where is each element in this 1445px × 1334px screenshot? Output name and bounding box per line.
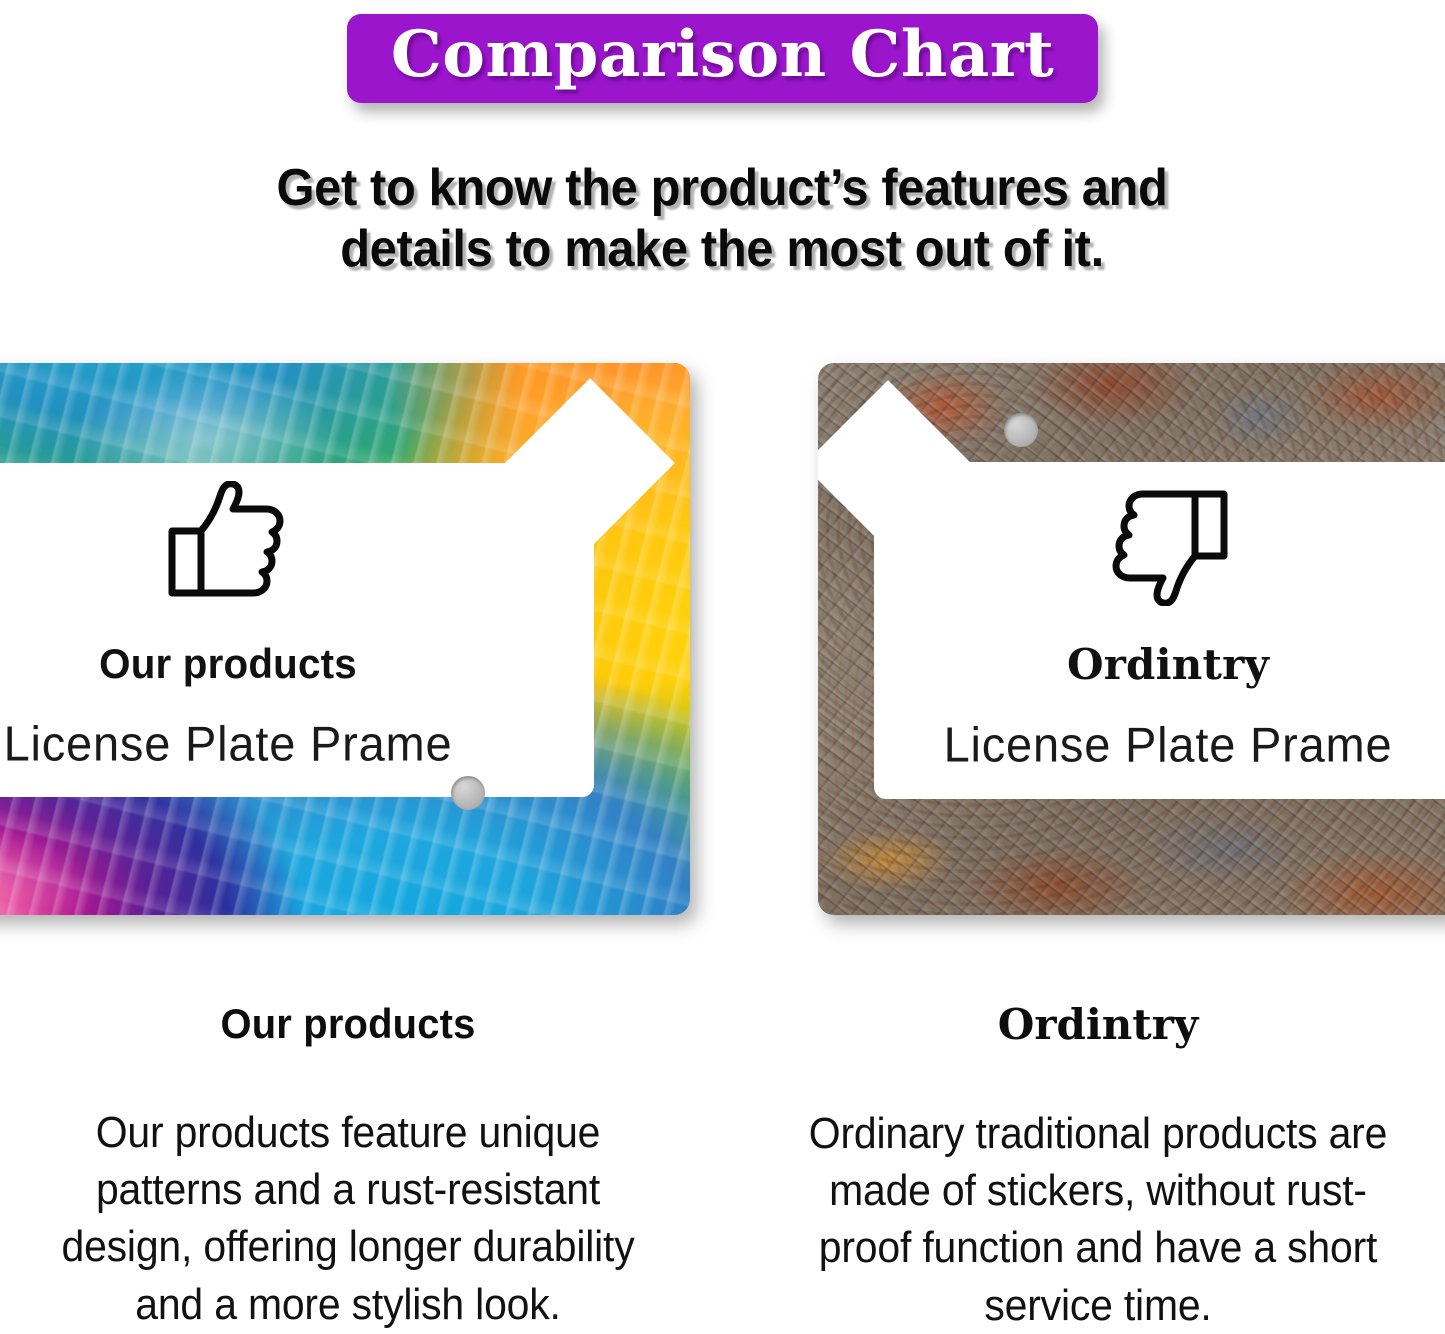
ordinary-product-frame-panel: Ordintry License Plate Prame [818, 363, 1445, 915]
plate-title-ordinary: Ordintry [874, 640, 1445, 689]
description-column-ours: Our products Our products feature unique… [28, 1000, 668, 1333]
title-banner-container: Comparison Chart [0, 14, 1445, 103]
plate-subtitle-ordinary: License Plate Prame [874, 716, 1445, 773]
screw-hole-ordinary [1004, 413, 1038, 447]
subtitle-line-2: details to make the most out of it. [111, 219, 1333, 280]
plate-content-ordinary: Ordintry License Plate Prame [874, 481, 1445, 772]
screw-hole-ours [451, 776, 485, 810]
thumbs-down-icon [874, 481, 1445, 606]
description-column-ordinary: Ordintry Ordinary traditional products a… [778, 1000, 1418, 1334]
plate-content-ours: Our products License Plate Prame [0, 481, 594, 771]
our-product-frame-panel: Our products License Plate Prame [0, 363, 690, 915]
title-banner: Comparison Chart [347, 14, 1098, 103]
column-body-ours: Our products feature unique patterns and… [50, 1104, 645, 1333]
thumbs-up-icon [0, 481, 594, 606]
column-heading-ours: Our products [44, 1000, 652, 1048]
subtitle: Get to know the product’s features and d… [111, 158, 1333, 281]
column-body-ordinary: Ordinary traditional products are made o… [800, 1105, 1395, 1334]
plate-title-ours: Our products [0, 640, 579, 688]
column-heading-ordinary: Ordintry [778, 1000, 1418, 1049]
plate-subtitle-ours: License Plate Prame [0, 715, 594, 772]
page-title: Comparison Chart [391, 20, 1054, 89]
subtitle-line-1: Get to know the product’s features and [111, 158, 1333, 219]
